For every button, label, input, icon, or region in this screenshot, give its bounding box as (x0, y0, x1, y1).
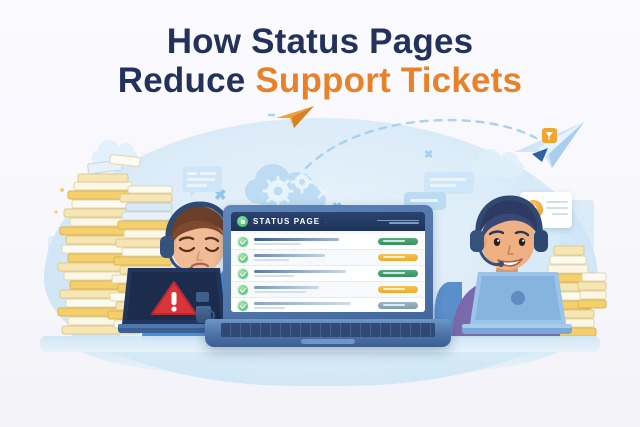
status-page-title: STATUS PAGE (253, 217, 320, 226)
paper-plane-icon (268, 98, 338, 134)
headline-line-2-plain: Reduce (118, 61, 256, 100)
laptop-base (205, 319, 451, 347)
check-circle-icon (238, 237, 248, 247)
status-row[interactable] (231, 234, 425, 250)
status-badge (378, 302, 418, 309)
headline-line-2-accent: Support Tickets (255, 61, 522, 100)
chat-bubble-icon (182, 166, 222, 192)
paper-plane-icon (508, 118, 592, 178)
status-row-text (254, 254, 372, 261)
status-row-text (254, 238, 372, 245)
right-laptop (462, 268, 572, 342)
status-row-text (254, 270, 372, 277)
status-badge (378, 270, 418, 277)
check-circle-icon (238, 301, 248, 311)
laptop-keyboard[interactable] (221, 323, 435, 337)
status-page-screen: STATUS PAGE . (231, 212, 425, 312)
status-row[interactable] (231, 298, 425, 312)
status-page-meta (377, 220, 419, 224)
status-badge (378, 254, 418, 261)
headline-line-1: How Status Pages (0, 22, 640, 61)
phone-icon (196, 292, 209, 302)
status-badge (378, 286, 418, 293)
status-row-text (254, 302, 372, 309)
check-circle-icon (238, 253, 248, 263)
check-circle-icon (238, 269, 248, 279)
status-row[interactable] (231, 266, 425, 282)
status-page-rows (231, 231, 425, 312)
laptop-lid: STATUS PAGE . (223, 205, 433, 323)
status-page-header: STATUS PAGE . (231, 212, 425, 231)
illustration-canvas: How Status Pages Reduce Support Tickets … (0, 0, 640, 427)
status-badge (378, 238, 418, 245)
status-row[interactable] (231, 250, 425, 266)
status-row-text (254, 286, 372, 293)
check-circle-icon (238, 285, 248, 295)
laptop-trackpad[interactable] (301, 339, 355, 344)
status-logo-icon (237, 216, 248, 227)
headline-line-2: Reduce Support Tickets (0, 61, 640, 100)
page-title: How Status Pages Reduce Support Tickets (0, 22, 640, 100)
status-row[interactable] (231, 282, 425, 298)
status-page-subtitle: . (325, 219, 327, 225)
